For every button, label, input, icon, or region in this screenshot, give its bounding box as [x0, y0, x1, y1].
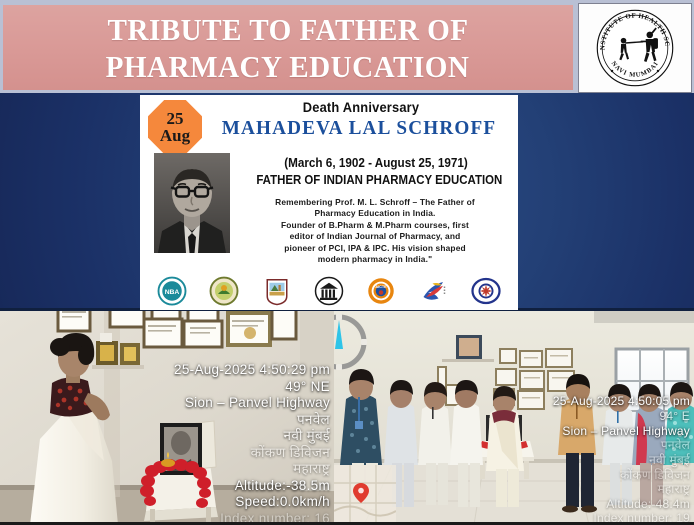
- gps-location: Sion – Panvel Highway: [174, 395, 330, 411]
- gps-datetime: 25-Aug-2025 4:50:05 pm: [553, 394, 690, 409]
- honoree-name: MAHADEVA LAL SCHROFF: [208, 117, 509, 140]
- svg-text:AICTE: AICTE: [376, 285, 388, 289]
- gps-local-line-4: महाराष्ट्र: [553, 482, 690, 497]
- tribute-body-line: pioneer of PCI, IPA & IPC. His vision sh…: [236, 243, 514, 254]
- gps-overlay-left: 25-Aug-2025 4:50:29 pm 49° NE Sion – Pan…: [174, 362, 330, 525]
- tribute-body-line: modern pharmacy in India.": [236, 254, 514, 265]
- pci-logo: [471, 276, 501, 306]
- honoree-life-dates: (March 6, 1902 - August 25, 1971): [254, 155, 499, 170]
- honoree-portrait: [154, 153, 230, 253]
- gps-local-line-3: कोंकण डिविजन: [174, 445, 330, 461]
- mgm-institute-logo: MGM INSTITUTE OF HEALTH SCIENCES NAVI MU…: [592, 7, 678, 89]
- accreditation-logo-row: NBA: [140, 274, 518, 308]
- header-title-block: TRIBUTE TO FATHER OF PHARMACY EDUCATION: [3, 5, 573, 90]
- portrait-photo-graphic: [154, 153, 230, 253]
- tribute-body-line: Pharmacy Education in India.: [236, 208, 514, 219]
- map-thumbnail[interactable]: [334, 465, 396, 525]
- gps-datetime: 25-Aug-2025 4:50:29 pm: [174, 362, 330, 378]
- swoosh-logo: [419, 276, 449, 306]
- svg-text:NBA: NBA: [165, 289, 180, 296]
- honoree-subtitle: FATHER OF INDIAN PHARMACY EDUCATION: [256, 172, 495, 187]
- institute-logo-box: MGM INSTITUTE OF HEALTH SCIENCES NAVI MU…: [578, 3, 692, 93]
- photo-floral-tribute: 25-Aug-2025 4:50:29 pm 49° NE Sion – Pan…: [0, 311, 334, 525]
- date-badge-day: 25: [167, 110, 184, 127]
- date-badge: 25 Aug: [148, 100, 202, 154]
- seal-logo: [209, 276, 239, 306]
- university-crest-logo: [262, 276, 292, 306]
- naac-logo: [314, 276, 344, 306]
- tribute-body-line: Remembering Prof. M. L. Schroff – The Fa…: [236, 197, 514, 208]
- aicte-logo: AICTE: [366, 276, 396, 306]
- date-badge-month: Aug: [160, 127, 190, 145]
- gps-location: Sion – Panvel Highway: [553, 424, 690, 439]
- gps-altitude: Altitude:-48.4m: [553, 497, 690, 512]
- tribute-body-text: Remembering Prof. M. L. Schroff – The Fa…: [236, 197, 514, 265]
- gps-altitude: Altitude:-38.5m: [174, 478, 330, 494]
- header-band: TRIBUTE TO FATHER OF PHARMACY EDUCATION …: [0, 0, 694, 93]
- gps-local-line-4: महाराष्ट्र: [174, 461, 330, 477]
- gps-local-line-2: नवी मुंबई: [553, 453, 690, 468]
- compass-widget: [334, 311, 370, 373]
- compass-icon: [334, 311, 370, 373]
- gps-speed: Speed:0.0km/h: [174, 494, 330, 510]
- tribute-poster-card: 25 Aug Death Anniversary MAHADEVA LAL SC…: [140, 95, 518, 310]
- slide-root: TRIBUTE TO FATHER OF PHARMACY EDUCATION …: [0, 0, 694, 525]
- page-title-line-2: PHARMACY EDUCATION: [106, 48, 470, 85]
- photo-group-gathering: 25-Aug-2025 4:50:05 pm 94° E Sion – Panv…: [334, 311, 694, 525]
- tribute-body-line: editor of Indian Journal of Pharmacy, an…: [236, 231, 514, 242]
- gps-local-line-1: पनवेल: [553, 438, 690, 453]
- occasion-label: Death Anniversary: [220, 99, 502, 115]
- tribute-body-line: Founder of B.Pharm & M.Pharm courses, fi…: [236, 220, 514, 231]
- page-title-line-1: TRIBUTE TO FATHER OF: [107, 11, 468, 48]
- gps-overlay-right: 25-Aug-2025 4:50:05 pm 94° E Sion – Panv…: [553, 394, 690, 525]
- nba-logo: NBA: [157, 276, 187, 306]
- gps-local-line-2: नवी मुंबई: [174, 428, 330, 444]
- photo-strip: 25-Aug-2025 4:50:29 pm 49° NE Sion – Pan…: [0, 311, 694, 525]
- gps-heading: 49° NE: [174, 379, 330, 395]
- gps-local-line-1: पनवेल: [174, 412, 330, 428]
- gps-local-line-3: कोंकण डिविजन: [553, 468, 690, 483]
- gps-heading: 94° E: [553, 409, 690, 424]
